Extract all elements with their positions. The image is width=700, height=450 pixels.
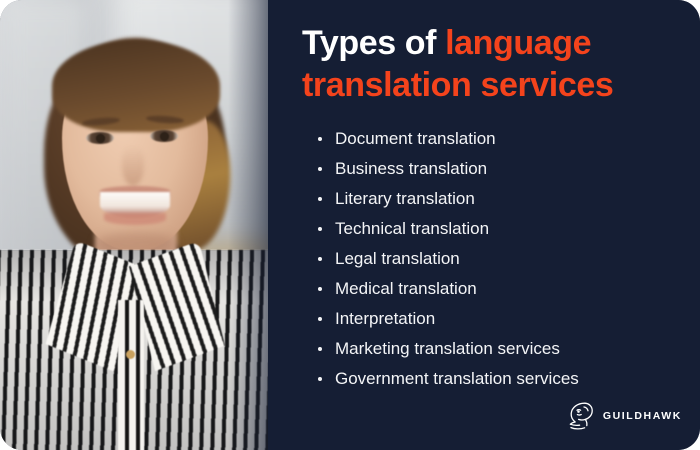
list-item: Interpretation <box>318 304 579 334</box>
bullet-icon <box>318 227 322 231</box>
page-title: Types of languagetranslation services <box>302 22 674 106</box>
bullet-icon <box>318 137 322 141</box>
list-item-label: Technical translation <box>335 219 489 238</box>
services-list: Document translation Business translatio… <box>318 124 579 394</box>
list-item: Document translation <box>318 124 579 154</box>
list-item-label: Medical translation <box>335 279 477 298</box>
list-item-label: Government translation services <box>335 369 579 388</box>
bullet-icon <box>318 167 322 171</box>
list-item: Marketing translation services <box>318 334 579 364</box>
bullet-icon <box>318 287 322 291</box>
photo-right-vignette <box>228 0 268 450</box>
list-item-label: Literary translation <box>335 189 475 208</box>
nose <box>122 146 144 186</box>
logo-wordmark: GUILDHAWK <box>603 410 682 422</box>
list-item: Business translation <box>318 154 579 184</box>
list-item: Medical translation <box>318 274 579 304</box>
info-card: Types of languagetranslation services Do… <box>0 0 700 450</box>
list-item: Government translation services <box>318 364 579 394</box>
title-accent-line1: language <box>445 24 591 62</box>
hawk-head-icon <box>565 400 595 432</box>
list-item-label: Business translation <box>335 159 487 178</box>
list-item: Technical translation <box>318 214 579 244</box>
bullet-icon <box>318 257 322 261</box>
bullet-icon <box>318 197 322 201</box>
pupil-right <box>160 132 169 141</box>
title-plain-text: Types of <box>302 24 445 62</box>
list-item-label: Interpretation <box>335 309 435 328</box>
bullet-icon <box>318 347 322 351</box>
pupil-left <box>96 134 105 143</box>
shirt-placket <box>118 300 144 450</box>
portrait-photo <box>0 0 268 450</box>
brand-logo: GUILDHAWK <box>565 400 682 432</box>
bullet-icon <box>318 317 322 321</box>
lower-lip <box>104 213 166 225</box>
bullet-icon <box>318 377 322 381</box>
shirt-button <box>126 350 135 359</box>
title-accent-line2: translation services <box>302 66 613 104</box>
list-item: Legal translation <box>318 244 579 274</box>
list-item-label: Marketing translation services <box>335 339 560 358</box>
list-item-label: Document translation <box>335 129 496 148</box>
hair-fringe <box>52 40 220 132</box>
list-item-label: Legal translation <box>335 249 460 268</box>
list-item: Literary translation <box>318 184 579 214</box>
content-panel: Types of languagetranslation services Do… <box>268 0 700 450</box>
